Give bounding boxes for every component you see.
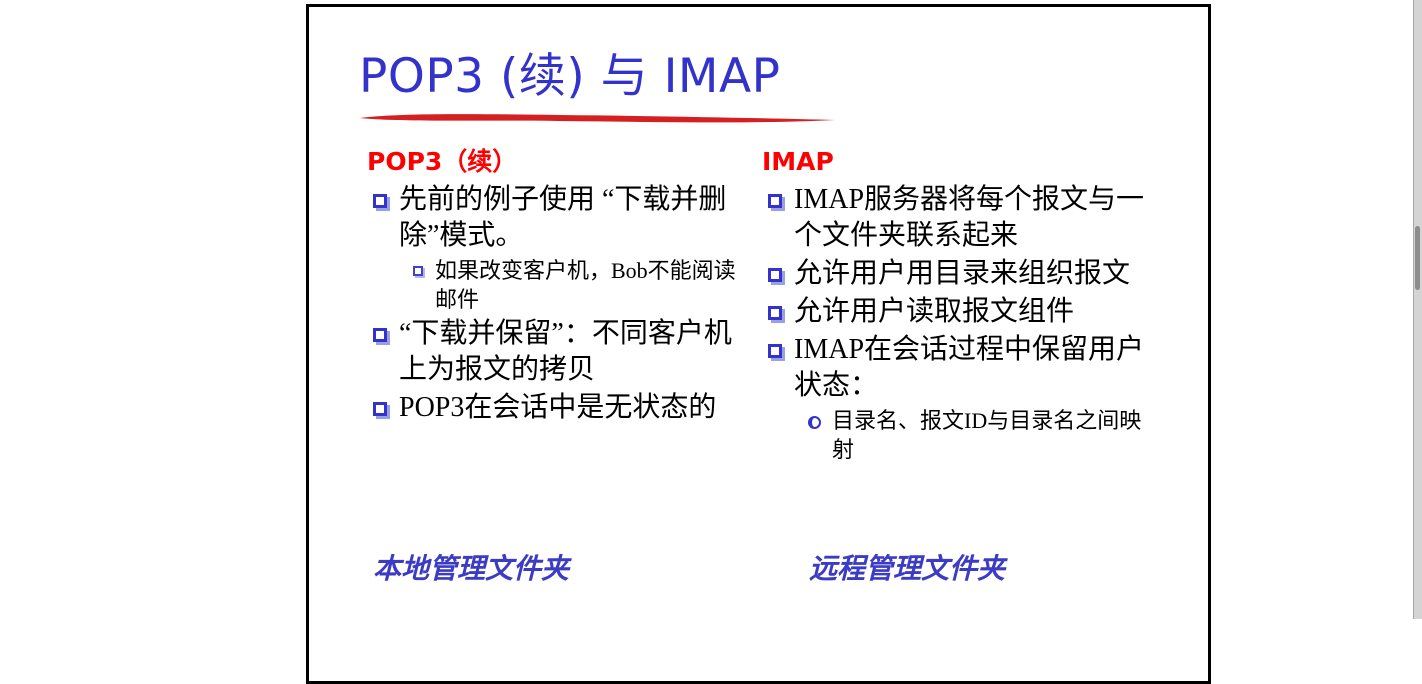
list-item-label: POP3在会话中是无状态的 [399,390,751,426]
square-bullet-icon [768,268,782,282]
column-heading-pop3: POP3（续） [367,146,751,178]
slide-viewer: POP3 (续) 与 IMAP POP3（续） 先前的例子使用 “下载并删除”模… [0,0,1422,619]
list-item: 先前的例子使用 “下载并删除”模式。 [361,182,751,254]
square-bullet-icon [768,344,782,358]
square-bullet-icon [373,328,387,342]
list-item: 允许用户用目录来组织报文 [756,256,1156,292]
circle-bullet-icon [808,416,821,429]
page-title: POP3 (续) 与 IMAP [359,49,1159,105]
list-item: “下载并保留”：不同客户机上为报文的拷贝 [361,316,751,388]
square-bullet-icon [373,194,387,208]
square-bullet-small-icon [413,266,423,276]
list-item: IMAP在会话过程中保留用户状态： [756,332,1156,404]
list-item-label: 如果改变客户机，Bob不能阅读邮件 [435,256,751,314]
list-item-label: IMAP在会话过程中保留用户状态： [794,332,1156,404]
square-bullet-icon [373,402,387,416]
list-item-label: “下载并保留”：不同客户机上为报文的拷贝 [399,316,751,388]
list-item: POP3在会话中是无状态的 [361,390,751,426]
caption-remote-folders: 远程管理文件夹 [809,553,1005,587]
scrollbar-thumb[interactable] [1415,226,1420,290]
slide-title-area: POP3 (续) 与 IMAP [359,49,1159,129]
list-item-label: 允许用户读取报文组件 [794,294,1156,330]
list-item-label: 目录名、报文ID与目录名之间映射 [832,406,1156,464]
list-item: IMAP服务器将每个报文与一个文件夹联系起来 [756,182,1156,254]
column-heading-imap: IMAP [762,146,1156,178]
slide-page: POP3 (续) 与 IMAP POP3（续） 先前的例子使用 “下载并删除”模… [306,4,1211,684]
column-pop3: POP3（续） 先前的例子使用 “下载并删除”模式。 如果改变客户机，Bob不能… [361,146,751,428]
list-item-label: IMAP服务器将每个报文与一个文件夹联系起来 [794,182,1156,254]
list-item: 允许用户读取报文组件 [756,294,1156,330]
list-item: 目录名、报文ID与目录名之间映射 [756,406,1156,464]
list-item-label: 允许用户用目录来组织报文 [794,256,1156,292]
square-bullet-icon [768,194,782,208]
caption-local-folders: 本地管理文件夹 [373,553,569,587]
square-bullet-icon [768,306,782,320]
list-item-label: 先前的例子使用 “下载并删除”模式。 [399,182,751,254]
list-item: 如果改变客户机，Bob不能阅读邮件 [361,256,751,314]
title-underline-stroke [359,111,837,125]
vertical-scrollbar[interactable] [1413,0,1422,619]
column-imap: IMAP IMAP服务器将每个报文与一个文件夹联系起来 允许用户用目录来组织报文… [756,146,1156,466]
